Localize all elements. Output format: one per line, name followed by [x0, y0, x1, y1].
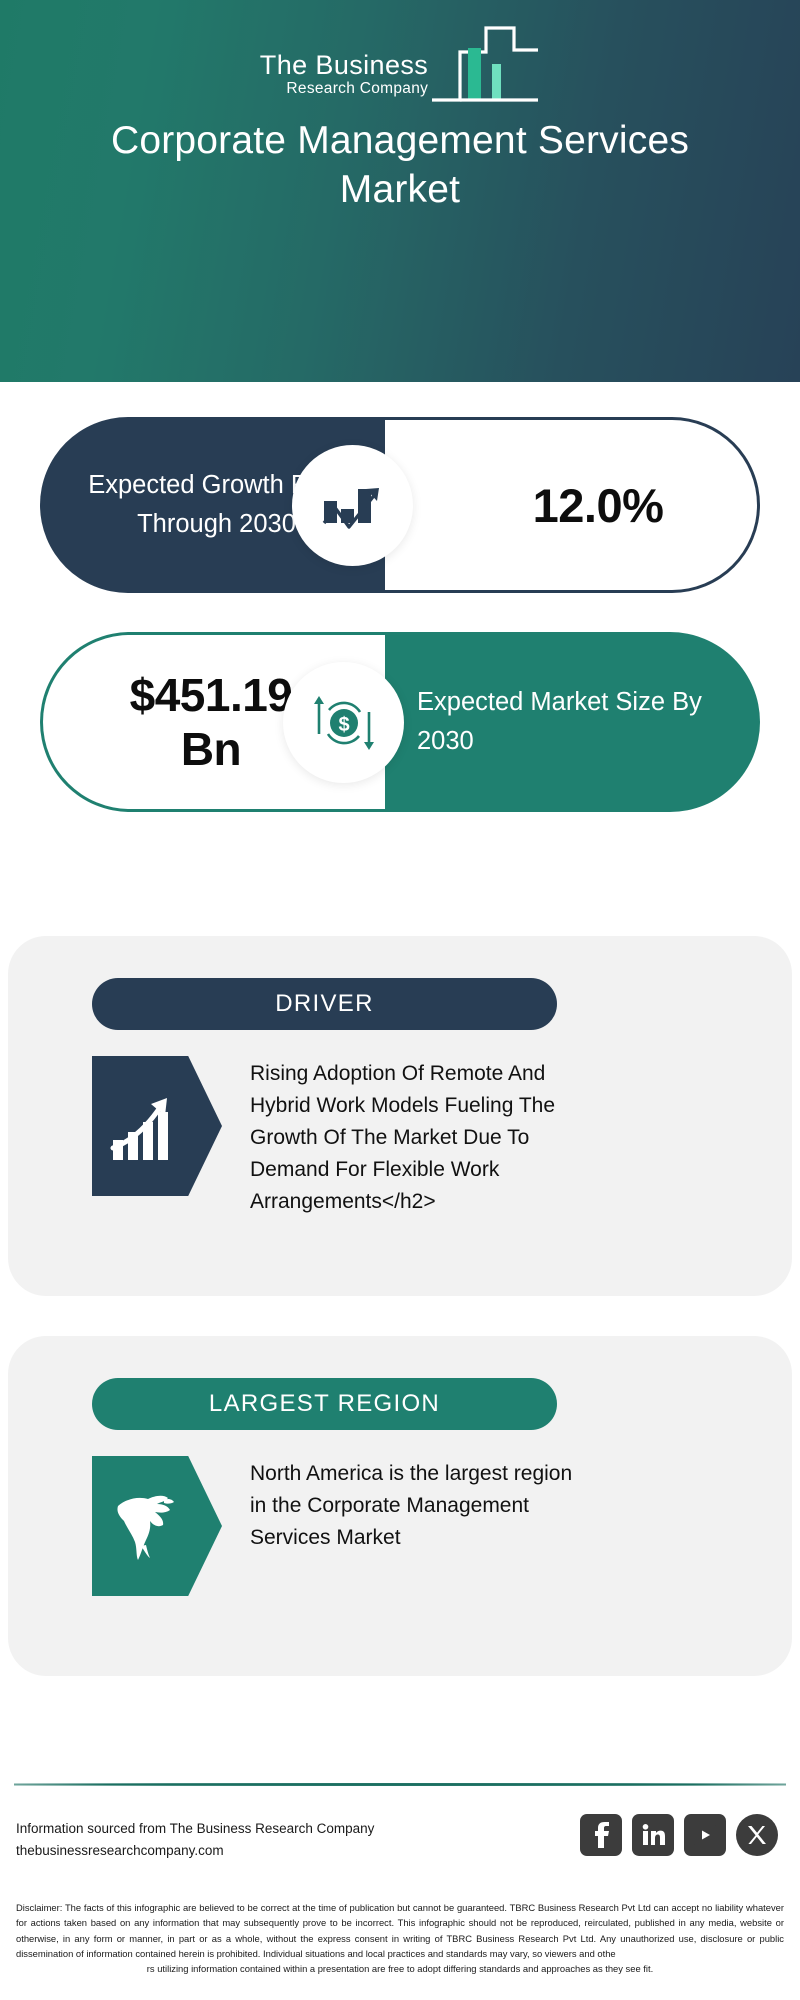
disclaimer-text: Disclaimer: The facts of this infographi… [16, 1900, 784, 1977]
driver-body: Rising Adoption Of Remote And Hybrid Wor… [92, 1056, 752, 1218]
source-attribution: Information sourced from The Business Re… [16, 1818, 374, 1862]
stat-card-growth-value: 12.0% [479, 478, 664, 533]
source-line-2[interactable]: thebusinessresearchcompany.com [16, 1840, 374, 1862]
disclaimer-main: Disclaimer: The facts of this infographi… [16, 1902, 784, 1959]
stat-card-growth-value-panel: 12.0% [385, 417, 760, 593]
footer-divider [14, 1783, 786, 1786]
rising-bar-chart-icon [92, 1056, 222, 1196]
dollar-cycle-icon: $ [283, 662, 404, 783]
header-banner: The Business Research Company Corporate … [0, 0, 800, 382]
social-links [580, 1814, 778, 1856]
driver-pill-label: DRIVER [275, 990, 373, 1018]
growth-chart-arrow-icon [292, 445, 413, 566]
facebook-icon[interactable] [580, 1814, 622, 1856]
x-twitter-icon[interactable] [736, 1814, 778, 1856]
infographic-page: The Business Research Company Corporate … [0, 0, 800, 2000]
page-title: Corporate Management Services Market [60, 116, 740, 214]
stat-card-market-label-panel: Expected Market Size By 2030 [385, 632, 760, 812]
svg-text:$: $ [338, 714, 349, 736]
source-line-1: Information sourced from The Business Re… [16, 1818, 374, 1840]
largest-region-pill-label: LARGEST REGION [209, 1390, 440, 1418]
largest-region-panel: LARGEST REGION North America is the larg… [8, 1336, 792, 1676]
bar-chart-logo-mark [430, 24, 540, 106]
logo-text-block: The Business Research Company [260, 51, 428, 106]
linkedin-icon[interactable] [632, 1814, 674, 1856]
stat-card-growth-rate: Expected Growth Rate Through 2030 12.0% [40, 417, 760, 593]
largest-region-body: North America is the largest region in t… [92, 1456, 752, 1596]
stat-card-market-size: $451.19 Bn Expected Market Size By 2030 … [40, 632, 760, 812]
largest-region-pill: LARGEST REGION [92, 1378, 557, 1430]
company-logo: The Business Research Company [0, 24, 800, 106]
driver-panel: DRIVER Rising Adoption Of Remote And Hyb… [8, 936, 792, 1296]
north-america-map-icon [92, 1456, 222, 1596]
youtube-icon[interactable] [684, 1814, 726, 1856]
largest-region-text: North America is the largest region in t… [250, 1456, 580, 1554]
driver-text: Rising Adoption Of Remote And Hybrid Wor… [250, 1056, 580, 1218]
driver-pill: DRIVER [92, 978, 557, 1030]
stat-card-market-label: Expected Market Size By 2030 [385, 683, 760, 761]
logo-line-1: The Business [260, 51, 428, 79]
disclaimer-last-line: rs utilizing information contained withi… [16, 1961, 784, 1976]
logo-line-2: Research Company [260, 79, 428, 100]
